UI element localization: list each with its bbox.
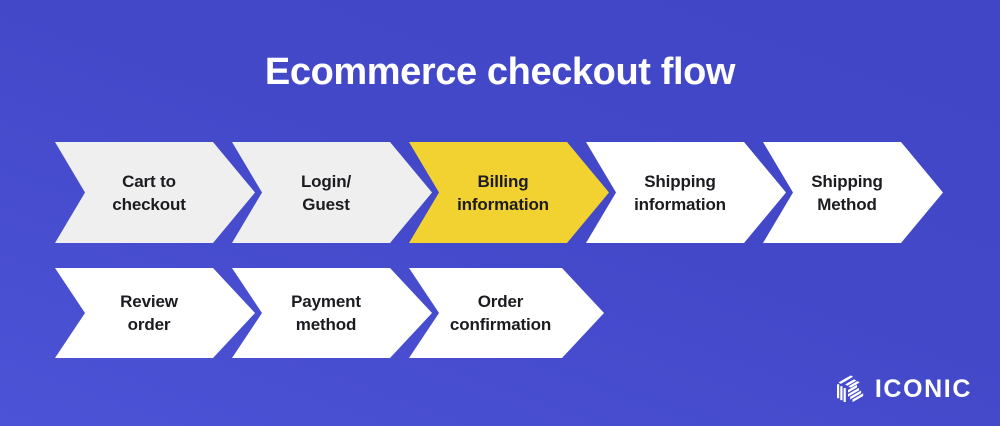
page-title: Ecommerce checkout flow	[0, 46, 1000, 98]
flow-step-label: Order confirmation	[436, 290, 577, 336]
flow-step-review-order[interactable]: Review order	[55, 268, 255, 358]
flow-step-label: Cart to checkout	[98, 170, 211, 216]
diagram-canvas: Ecommerce checkout flow Cart to checkout…	[0, 0, 1000, 426]
flow-step-label: Shipping information	[620, 170, 752, 216]
flow-step-payment-method[interactable]: Payment method	[232, 268, 432, 358]
flow-step-label: Review order	[106, 290, 204, 336]
flow-step-cart-to-checkout[interactable]: Cart to checkout	[55, 142, 255, 243]
flow-step-label: Shipping Method	[797, 170, 909, 216]
isometric-cube-icon	[837, 375, 864, 404]
flow-step-label: Payment method	[277, 290, 387, 336]
flow-step-label: Billing information	[443, 170, 575, 216]
flow-step-label: Login/ Guest	[287, 170, 377, 216]
flow-row-1: Cart to checkoutLogin/ GuestBilling info…	[0, 142, 1000, 243]
flow-step-login-guest[interactable]: Login/ Guest	[232, 142, 432, 243]
flow-step-order-confirmation[interactable]: Order confirmation	[409, 268, 604, 358]
flow-step-billing-information[interactable]: Billing information	[409, 142, 609, 243]
brand-logo-text: ICONIC	[875, 376, 972, 403]
flow-step-shipping-method[interactable]: Shipping Method	[763, 142, 943, 243]
flow-row-2: Review orderPayment methodOrder confirma…	[0, 268, 1000, 358]
flow-step-shipping-information[interactable]: Shipping information	[586, 142, 786, 243]
brand-logo: ICONIC	[837, 375, 972, 404]
